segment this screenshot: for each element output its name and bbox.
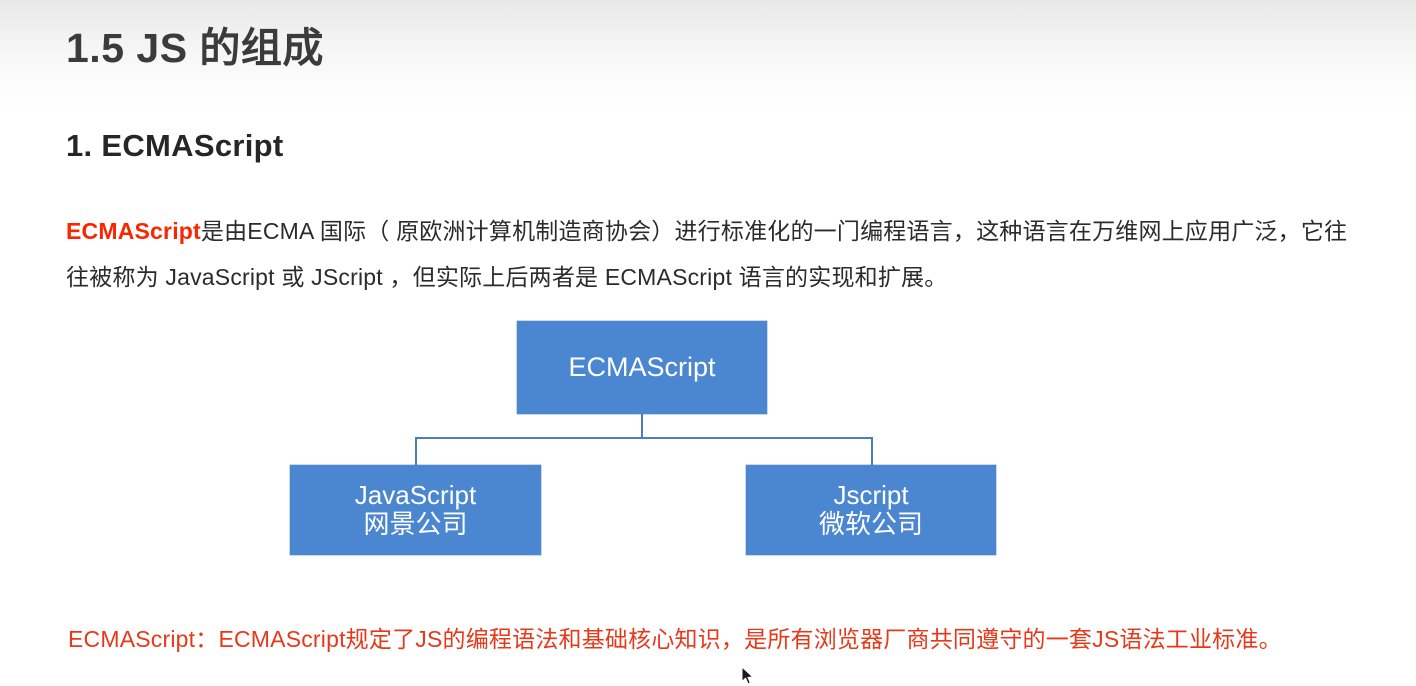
connector-branch-left <box>415 437 417 466</box>
paragraph-text: 是由ECMA 国际（ 原欧洲计算机制造商协会）进行标准化的一门编程语言，这种语言… <box>66 218 1347 290</box>
diagram-node-jscript-label: Jscript <box>833 481 908 510</box>
footnote-text: ECMAScript：ECMAScript规定了JS的编程语法和基础核心知识，是… <box>68 620 1282 654</box>
page-title: 1.5 JS 的组成 <box>66 14 324 74</box>
mouse-pointer-icon <box>741 666 755 686</box>
section-heading: 1. ECMAScript <box>66 128 284 164</box>
diagram-node-ecmascript-label: ECMAScript <box>568 352 715 382</box>
diagram-node-jscript-sublabel: 微软公司 <box>819 510 923 539</box>
body-paragraph: ECMAScript是由ECMA 国际（ 原欧洲计算机制造商协会）进行标准化的一… <box>66 208 1366 300</box>
connector-branch-right <box>871 437 873 466</box>
diagram-node-javascript[interactable]: JavaScript 网景公司 <box>290 465 541 555</box>
diagram-node-javascript-sublabel: 网景公司 <box>363 510 467 539</box>
diagram-node-jscript[interactable]: Jscript 微软公司 <box>746 465 996 555</box>
diagram-node-javascript-label: JavaScript <box>355 481 476 510</box>
slide-page: 1.5 JS 的组成 1. ECMAScript ECMAScript是由ECM… <box>0 0 1416 681</box>
keyword-ecmascript: ECMAScript <box>66 218 201 244</box>
connector-horizontal-bus <box>415 437 873 439</box>
diagram-node-ecmascript[interactable]: ECMAScript <box>517 321 767 414</box>
connector-root-stem <box>641 414 643 439</box>
ecmascript-tree-diagram: ECMAScript JavaScript 网景公司 Jscript 微软公司 <box>0 0 1416 681</box>
